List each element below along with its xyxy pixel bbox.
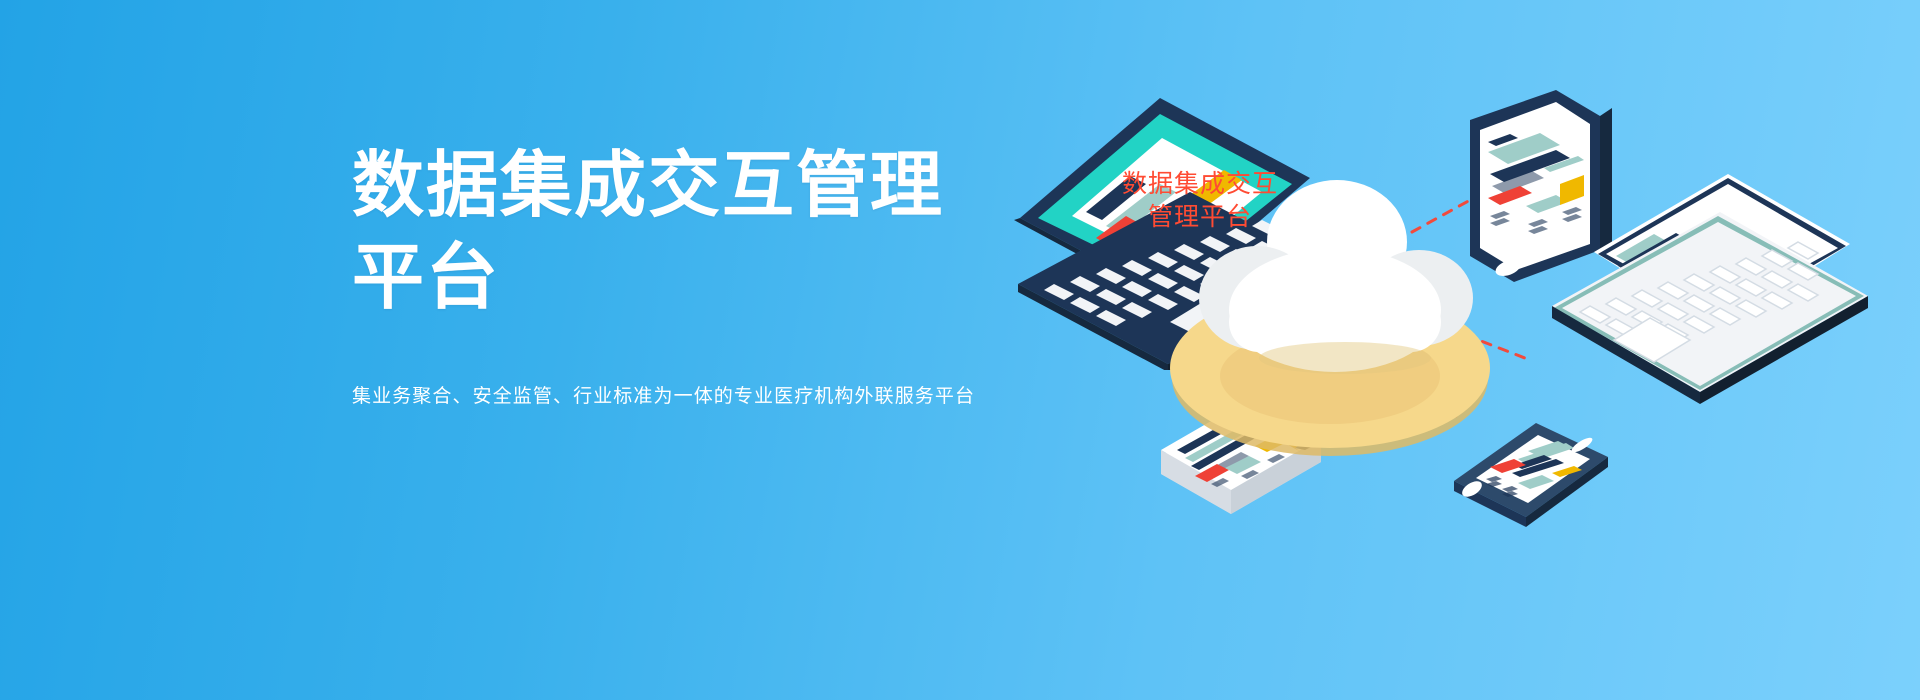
hero-banner: 数据集成交互管理平台 集业务聚合、安全监管、行业标准为一体的专业医疗机构外联服务… (0, 0, 1920, 700)
device-smartphone (1440, 405, 1620, 535)
hero-illustration: 数据集成交互 管理平台 (1060, 60, 1860, 620)
cloud-label-line-1: 数据集成交互 (1060, 168, 1340, 201)
page-subtitle: 集业务聚合、安全监管、行业标准为一体的专业医疗机构外联服务平台 (352, 382, 1052, 412)
device-laptop-right (1550, 160, 1880, 420)
hero-text-block: 数据集成交互管理平台 集业务聚合、安全监管、行业标准为一体的专业医疗机构外联服务… (352, 140, 1052, 412)
cloud-ground-shadow (1259, 342, 1431, 374)
cloud-label: 数据集成交互 管理平台 (1060, 168, 1340, 234)
page-title: 数据集成交互管理平台 (352, 140, 992, 324)
cloud-label-line-2: 管理平台 (1060, 201, 1340, 234)
